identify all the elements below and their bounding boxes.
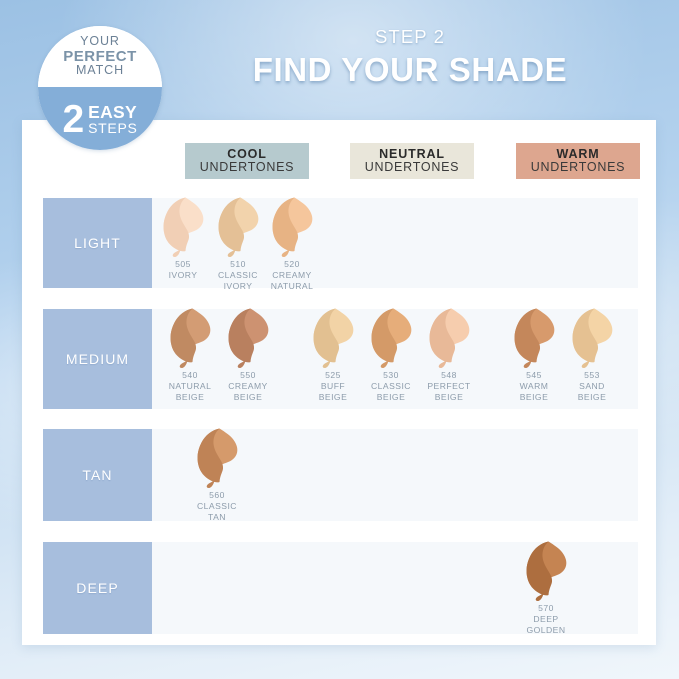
shade-code-560: 560 bbox=[188, 490, 246, 501]
shade-name-553: SAND BEIGE bbox=[563, 381, 621, 403]
shade-name-520: CREAMY NATURAL bbox=[263, 270, 321, 292]
shade-row-tan: TAN bbox=[43, 429, 638, 521]
shade-name-510: CLASSIC IVORY bbox=[209, 270, 267, 292]
foundation-smear-icon bbox=[563, 307, 621, 369]
shade-name-505: IVORY bbox=[154, 270, 212, 281]
badge-lower-text: 2 EASY STEPS bbox=[38, 87, 162, 150]
shade-swatch-553: 553SAND BEIGE bbox=[563, 307, 621, 404]
badge-step-count: 2 bbox=[62, 102, 84, 137]
column-header-cool: COOL UNDERTONES bbox=[185, 143, 309, 179]
shade-name-570: DEEP GOLDEN bbox=[517, 614, 575, 636]
shade-swatch-505: 505IVORY bbox=[154, 196, 212, 281]
column-header-cool-sub: UNDERTONES bbox=[200, 161, 295, 175]
shade-name-540: NATURAL BEIGE bbox=[161, 381, 219, 403]
shade-swatch-548: 548PERFECT BEIGE bbox=[420, 307, 478, 404]
column-header-neutral-sub: UNDERTONES bbox=[365, 161, 460, 175]
shade-name-548: PERFECT BEIGE bbox=[420, 381, 478, 403]
shade-swatch-550: 550CREAMY BEIGE bbox=[219, 307, 277, 404]
shade-code-510: 510 bbox=[209, 259, 267, 270]
shade-name-525: BUFF BEIGE bbox=[304, 381, 362, 403]
foundation-smear-icon bbox=[263, 196, 321, 258]
shade-code-520: 520 bbox=[263, 259, 321, 270]
badge-upper-text: YOUR PERFECT MATCH bbox=[38, 26, 162, 87]
badge-line-perfect: PERFECT bbox=[63, 49, 137, 65]
shade-finder-graphic: STEP 2 FIND YOUR SHADE YOUR PERFECT MATC… bbox=[0, 0, 679, 679]
badge-line-steps: STEPS bbox=[88, 121, 137, 135]
shade-swatch-520: 520CREAMY NATURAL bbox=[263, 196, 321, 293]
shade-code-530: 530 bbox=[362, 370, 420, 381]
foundation-smear-icon bbox=[420, 307, 478, 369]
shade-code-570: 570 bbox=[517, 603, 575, 614]
foundation-smear-icon bbox=[517, 540, 575, 602]
row-label-tan: TAN bbox=[43, 429, 152, 521]
shade-code-505: 505 bbox=[154, 259, 212, 270]
shade-code-540: 540 bbox=[161, 370, 219, 381]
badge-step-words: EASY STEPS bbox=[88, 104, 137, 136]
shade-name-560: CLASSIC TAN bbox=[188, 501, 246, 523]
shade-code-545: 545 bbox=[505, 370, 563, 381]
shade-code-548: 548 bbox=[420, 370, 478, 381]
step-label: STEP 2 bbox=[175, 26, 645, 48]
foundation-smear-icon bbox=[161, 307, 219, 369]
column-header-cool-title: COOL bbox=[227, 148, 267, 162]
foundation-smear-icon bbox=[219, 307, 277, 369]
shade-code-525: 525 bbox=[304, 370, 362, 381]
headline-block: STEP 2 FIND YOUR SHADE bbox=[175, 26, 645, 89]
row-label-light: LIGHT bbox=[43, 198, 152, 288]
shade-swatch-510: 510CLASSIC IVORY bbox=[209, 196, 267, 293]
column-header-warm-sub: UNDERTONES bbox=[531, 161, 626, 175]
badge-line-match: MATCH bbox=[76, 64, 124, 77]
column-header-neutral: NEUTRAL UNDERTONES bbox=[350, 143, 474, 179]
badge-line-your: YOUR bbox=[80, 35, 120, 48]
foundation-smear-icon bbox=[188, 427, 246, 489]
foundation-smear-icon bbox=[304, 307, 362, 369]
shade-swatch-530: 530CLASSIC BEIGE bbox=[362, 307, 420, 404]
foundation-smear-icon bbox=[154, 196, 212, 258]
shade-swatch-540: 540NATURAL BEIGE bbox=[161, 307, 219, 404]
row-label-medium: MEDIUM bbox=[43, 309, 152, 409]
shade-swatch-560: 560CLASSIC TAN bbox=[188, 427, 246, 524]
column-header-warm-title: WARM bbox=[557, 148, 600, 162]
row-label-deep: DEEP bbox=[43, 542, 152, 634]
perfect-match-badge: YOUR PERFECT MATCH 2 EASY STEPS bbox=[38, 26, 162, 150]
shade-code-553: 553 bbox=[563, 370, 621, 381]
column-header-neutral-title: NEUTRAL bbox=[379, 148, 445, 162]
column-header-warm: WARM UNDERTONES bbox=[516, 143, 640, 179]
shade-swatch-570: 570DEEP GOLDEN bbox=[517, 540, 575, 637]
shade-swatch-545: 545WARM BEIGE bbox=[505, 307, 563, 404]
shade-name-550: CREAMY BEIGE bbox=[219, 381, 277, 403]
page-title: FIND YOUR SHADE bbox=[175, 51, 645, 89]
foundation-smear-icon bbox=[209, 196, 267, 258]
shade-name-530: CLASSIC BEIGE bbox=[362, 381, 420, 403]
shade-row-light: LIGHT bbox=[43, 198, 638, 288]
shade-swatch-525: 525BUFF BEIGE bbox=[304, 307, 362, 404]
badge-line-easy: EASY bbox=[88, 104, 137, 122]
shade-code-550: 550 bbox=[219, 370, 277, 381]
foundation-smear-icon bbox=[505, 307, 563, 369]
foundation-smear-icon bbox=[362, 307, 420, 369]
shade-name-545: WARM BEIGE bbox=[505, 381, 563, 403]
